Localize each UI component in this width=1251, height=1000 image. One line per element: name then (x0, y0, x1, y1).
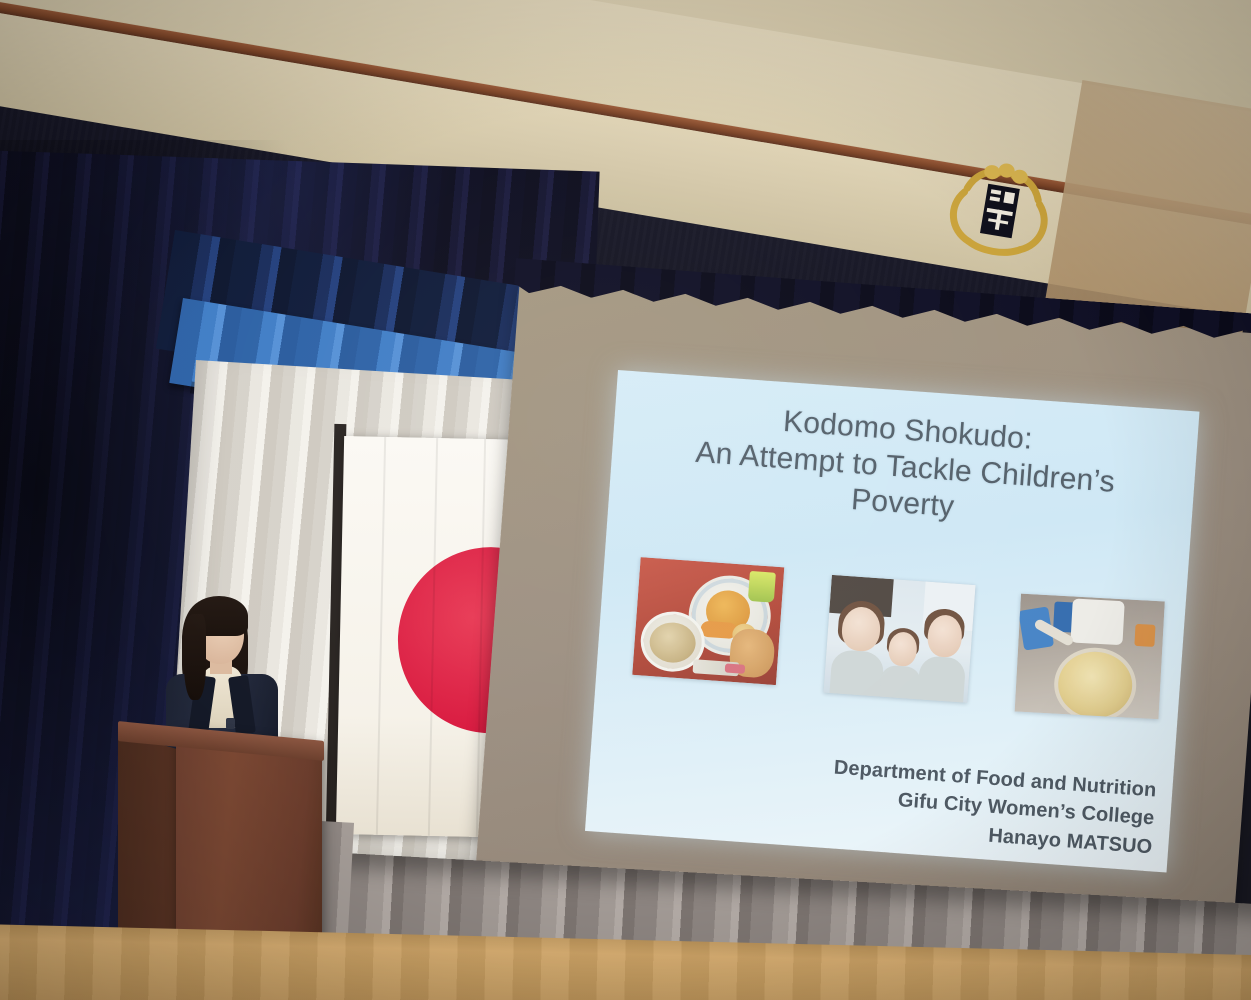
crest-icon (932, 149, 1068, 272)
school-crest-emblem (932, 149, 1068, 272)
presenter-hair-side (184, 614, 206, 700)
slide-title: Kodomo Shokudo: An Attempt to Tackle Chi… (627, 393, 1184, 542)
meal-tray-photo (632, 557, 784, 685)
slide-credits: Department of Food and Nutrition Gifu Ci… (829, 753, 1157, 861)
projected-slide: Kodomo Shokudo: An Attempt to Tackle Chi… (585, 370, 1200, 873)
slide-photo-row (632, 557, 1166, 716)
presentation-photo: Kodomo Shokudo: An Attempt to Tackle Chi… (0, 0, 1251, 1000)
children-photo (823, 575, 975, 703)
cooking-pot-photo (1015, 594, 1165, 720)
